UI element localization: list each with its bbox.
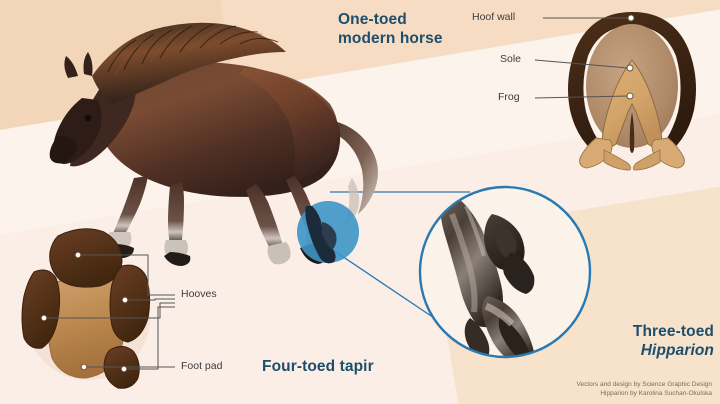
label-frog: Frog: [498, 91, 520, 103]
label-hoof-wall: Hoof wall: [472, 11, 515, 23]
credits-line2: Hipparion by Karolina Suchan-Okulska: [577, 389, 713, 399]
heading-modern-horse: One-toed modern horse: [338, 10, 443, 49]
hipparion-magnifier-circle: [420, 187, 590, 368]
artwork-layer: [0, 0, 720, 404]
heading-modern-horse-line2: modern horse: [338, 29, 443, 48]
infographic-poster: One-toed modern horse Hoof wall Sole Fro…: [0, 0, 720, 404]
hoof-cross-section-diagram: [568, 12, 696, 170]
label-hooves: Hooves: [181, 288, 217, 300]
label-sole: Sole: [500, 53, 521, 65]
heading-tapir: Four-toed tapir: [262, 357, 374, 376]
heading-modern-horse-line1: One-toed: [338, 10, 443, 29]
hoof-source-marker: [297, 201, 359, 263]
heading-tapir-line1: Four-toed tapir: [262, 357, 374, 376]
credits-block: Vectors and design by Science Graphic De…: [577, 380, 713, 400]
heading-hipparion: Three-toed Hipparion: [618, 322, 714, 361]
heading-hipparion-line1: Three-toed: [618, 322, 714, 341]
label-foot-pad: Foot pad: [181, 360, 222, 372]
heading-hipparion-line2: Hipparion: [618, 341, 714, 360]
credits-line1: Vectors and design by Science Graphic De…: [577, 380, 713, 390]
